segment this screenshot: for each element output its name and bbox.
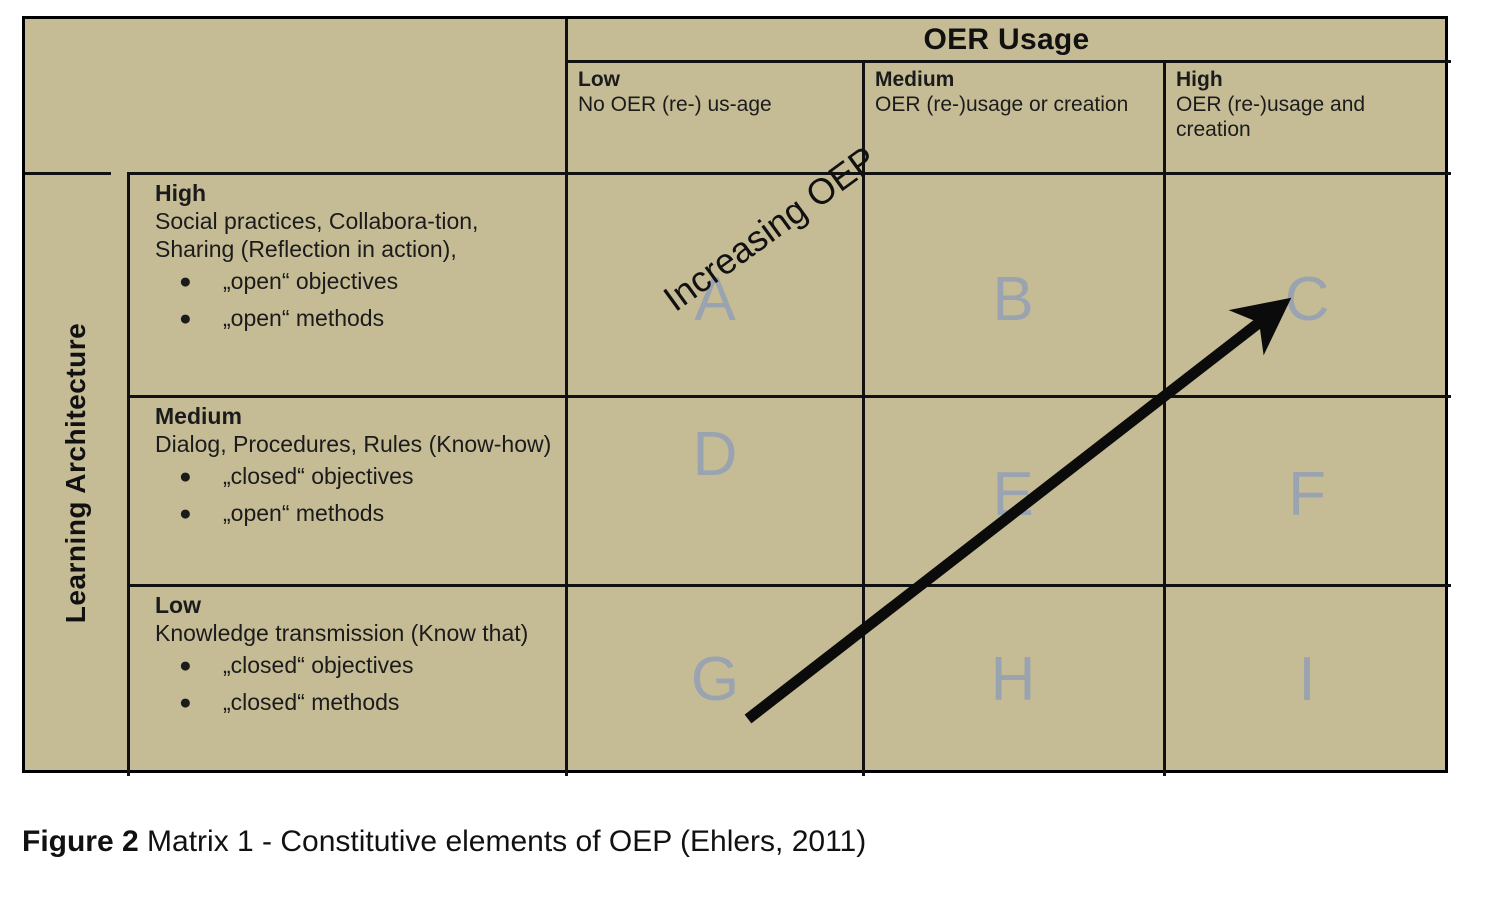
grid-vline-axis-label bbox=[127, 172, 130, 776]
list-item: ● „open“ methods bbox=[223, 495, 560, 532]
matrix-cell-E: E bbox=[963, 459, 1063, 530]
matrix-cell-D: D bbox=[665, 419, 765, 490]
row-axis-title: Learning Architecture bbox=[25, 172, 127, 773]
column-header-high-description: OER (re-)usage and creation bbox=[1176, 92, 1441, 142]
row-header-low-description: Knowledge transmission (Know that) bbox=[155, 619, 560, 647]
column-header-low-level: Low bbox=[578, 67, 852, 92]
row-header-high: High Social practices, Collabora-tion, S… bbox=[133, 175, 568, 395]
row-header-medium-description: Dialog, Procedures, Rules (Know-how) bbox=[155, 430, 560, 458]
bullet-icon: ● bbox=[179, 647, 192, 684]
column-header-low-description: No OER (re-) us-age bbox=[578, 92, 852, 117]
bullet-icon: ● bbox=[179, 300, 192, 337]
list-item-label: „closed“ objectives bbox=[223, 463, 413, 489]
column-header-medium-description: OER (re-)usage or creation bbox=[875, 92, 1153, 117]
matrix-cell-H: H bbox=[963, 644, 1063, 715]
bullet-icon: ● bbox=[179, 263, 192, 300]
matrix-cell-I: I bbox=[1257, 644, 1357, 715]
column-axis-title: OER Usage bbox=[568, 19, 1445, 60]
matrix-cell-D-label: D bbox=[693, 420, 738, 489]
matrix-cell-E-label: E bbox=[992, 460, 1033, 529]
row-header-low-level: Low bbox=[155, 591, 560, 619]
row-header-high-description: Social practices, Collabora-tion, Sharin… bbox=[155, 207, 560, 263]
column-header-medium-level: Medium bbox=[875, 67, 1153, 92]
list-item: ● „closed“ methods bbox=[223, 684, 560, 721]
figure-caption: Figure 2 Matrix 1 - Constitutive element… bbox=[22, 825, 866, 859]
bullet-icon: ● bbox=[179, 495, 192, 532]
matrix-cell-I-label: I bbox=[1298, 645, 1315, 714]
matrix-cell-F-label: F bbox=[1288, 460, 1326, 529]
grid-hline-oer-usage bbox=[565, 60, 1451, 63]
row-header-medium-bullets: ● „closed“ objectives ● „open“ methods bbox=[155, 458, 560, 532]
matrix-cell-B: B bbox=[963, 264, 1063, 335]
row-header-medium: Medium Dialog, Procedures, Rules (Know-h… bbox=[133, 398, 568, 584]
row-header-low: Low Knowledge transmission (Know that) ●… bbox=[133, 587, 568, 776]
matrix-cell-G: G bbox=[665, 644, 765, 715]
figure-caption-text: Matrix 1 - Constitutive elements of OEP … bbox=[139, 825, 867, 858]
list-item-label: „open“ methods bbox=[223, 305, 384, 331]
matrix-cell-G-label: G bbox=[691, 645, 739, 714]
matrix-cell-H-label: H bbox=[991, 645, 1036, 714]
matrix-cell-F: F bbox=[1257, 459, 1357, 530]
bullet-icon: ● bbox=[179, 684, 192, 721]
list-item-label: „closed“ methods bbox=[223, 689, 399, 715]
column-header-high-level: High bbox=[1176, 67, 1441, 92]
row-header-high-bullets: ● „open“ objectives ● „open“ methods bbox=[155, 263, 560, 337]
row-header-high-level: High bbox=[155, 179, 560, 207]
oep-matrix-table: OER Usage Low No OER (re-) us-age Medium… bbox=[22, 16, 1448, 773]
column-header-medium: Medium OER (re-)usage or creation bbox=[865, 65, 1163, 175]
column-header-low: Low No OER (re-) us-age bbox=[568, 65, 862, 175]
column-header-high: High OER (re-)usage and creation bbox=[1166, 65, 1451, 175]
figure-caption-number: Figure 2 bbox=[22, 825, 139, 858]
matrix-cell-B-label: B bbox=[992, 265, 1033, 334]
matrix-cell-C-label: C bbox=[1285, 265, 1330, 334]
bullet-icon: ● bbox=[179, 458, 192, 495]
figure-2-container: OER Usage Low No OER (re-) us-age Medium… bbox=[0, 0, 1488, 904]
list-item: ● „closed“ objectives bbox=[223, 458, 560, 495]
list-item-label: „open“ objectives bbox=[223, 268, 398, 294]
row-axis-title-label: Learning Architecture bbox=[60, 322, 92, 622]
row-header-medium-level: Medium bbox=[155, 402, 560, 430]
list-item: ● „open“ methods bbox=[223, 300, 560, 337]
matrix-cell-C: C bbox=[1257, 264, 1357, 335]
row-header-low-bullets: ● „closed“ objectives ● „closed“ methods bbox=[155, 647, 560, 721]
list-item-label: „closed“ objectives bbox=[223, 652, 413, 678]
list-item-label: „open“ methods bbox=[223, 500, 384, 526]
list-item: ● „closed“ objectives bbox=[223, 647, 560, 684]
list-item: ● „open“ objectives bbox=[223, 263, 560, 300]
